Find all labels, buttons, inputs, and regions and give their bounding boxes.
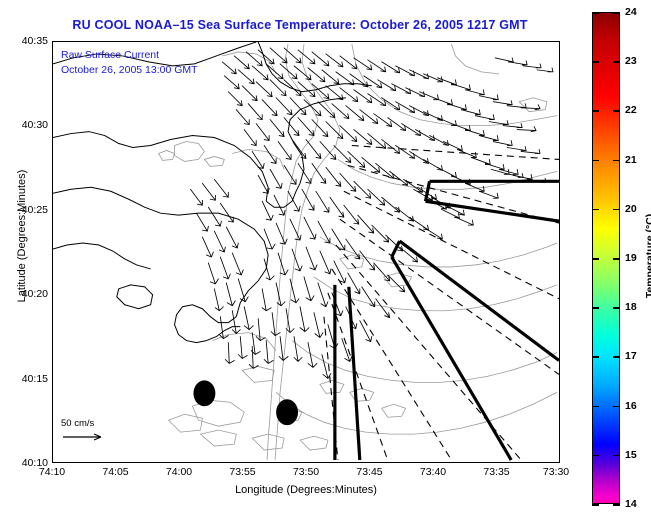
xtick-label: 73:40 bbox=[420, 466, 446, 478]
colorbar-tick-label: 23 bbox=[625, 55, 637, 67]
colorbar-tick-label: 16 bbox=[625, 400, 637, 412]
xtick-label: 73:30 bbox=[543, 466, 569, 478]
radar-radial-beams bbox=[324, 146, 559, 461]
xtick-label: 73:35 bbox=[483, 466, 509, 478]
bathymetry-contours bbox=[159, 44, 557, 460]
xtick-label: 74:05 bbox=[102, 466, 128, 478]
right-arrow-icon bbox=[61, 431, 109, 443]
ytick-label: 40:15 bbox=[22, 373, 48, 385]
map-canvas bbox=[53, 42, 559, 462]
current-annotation-line1: Raw Surface Current bbox=[61, 48, 198, 63]
map-plot-area: Raw Surface Current October 26, 2005 13:… bbox=[52, 41, 560, 463]
colorbar-tick-label: 22 bbox=[625, 104, 637, 116]
current-annotation-line2: October 26, 2005 13:00 GMT bbox=[61, 63, 198, 78]
colorbar-tick-label: 14 bbox=[625, 498, 637, 510]
ytick-label: 40:35 bbox=[22, 35, 48, 47]
colorbar-tick-label: 15 bbox=[625, 449, 637, 461]
ytick-label: 40:10 bbox=[22, 457, 48, 469]
station-markers bbox=[193, 380, 298, 425]
vector-scale-label: 50 cm/s bbox=[61, 418, 109, 429]
colorbar-tick-label: 18 bbox=[625, 301, 637, 313]
y-axis-title: Latitude (Degrees:Minutes) bbox=[16, 126, 28, 346]
xtick-label: 73:50 bbox=[293, 466, 319, 478]
station-marker-east bbox=[276, 399, 298, 425]
xtick-label: 74:00 bbox=[166, 466, 192, 478]
colorbar-tick-label: 24 bbox=[625, 6, 637, 18]
vector-scale-key: 50 cm/s bbox=[61, 418, 109, 446]
colorbar-tick-label: 21 bbox=[625, 154, 637, 166]
radar-coverage-boundary bbox=[335, 181, 559, 460]
xtick-label: 73:55 bbox=[229, 466, 255, 478]
colorbar-tick-label: 19 bbox=[625, 252, 637, 264]
colorbar-title: Temperature (°C) bbox=[644, 166, 651, 346]
station-marker-west bbox=[193, 380, 215, 406]
figure-title: RU COOL NOAA–15 Sea Surface Temperature:… bbox=[0, 18, 600, 32]
colorbar-tick-label: 20 bbox=[625, 203, 637, 215]
current-annotation: Raw Surface Current October 26, 2005 13:… bbox=[61, 48, 198, 78]
colorbar-tick-label: 17 bbox=[625, 350, 637, 362]
coastline bbox=[53, 42, 372, 343]
x-axis-title: Longitude (Degrees:Minutes) bbox=[52, 484, 560, 496]
sst-map-figure: RU COOL NOAA–15 Sea Surface Temperature:… bbox=[0, 0, 651, 519]
xtick-label: 73:45 bbox=[356, 466, 382, 478]
